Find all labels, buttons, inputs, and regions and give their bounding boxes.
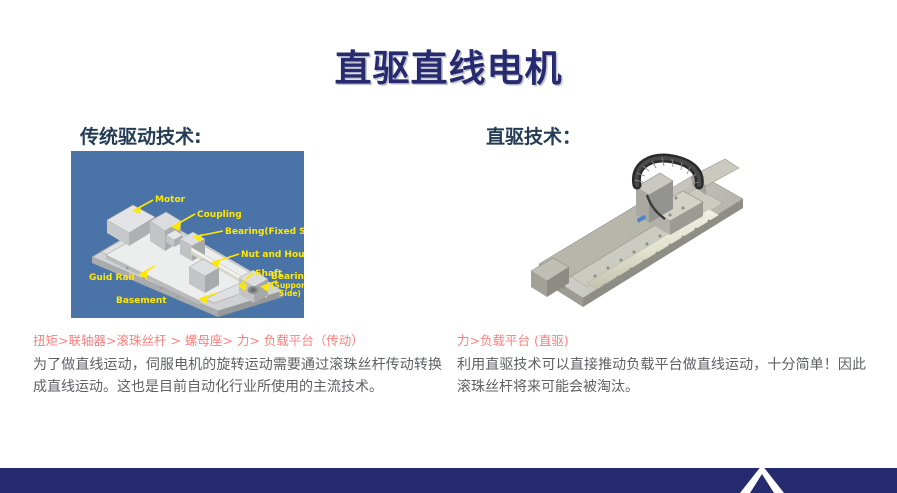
left-body-text: 为了做直线运动，伺服电机的旋转运动需要通过滚珠丝杆传动转换成直线运动。这也是目前… bbox=[33, 355, 442, 398]
figure-label-basement: Basement bbox=[116, 296, 167, 306]
figure-label-bearing-fixed: Bearing(Fixed Side) bbox=[225, 227, 304, 237]
ball-screw-stage-diagram: Motor Coupling Bearing(Fixed Side) Nut a… bbox=[71, 151, 304, 318]
figure-label-bearing-supported-3: Side) bbox=[279, 289, 301, 298]
right-flow-caption: 力>负载平台 (直驱) bbox=[457, 330, 569, 349]
slide-canvas: 直驱直线电机 传统驱动技术: bbox=[0, 0, 897, 493]
right-body-text: 利用直驱技术可以直接推动负载平台做直线运动，十分简单！因此滚珠丝杆将来可能会被淘… bbox=[457, 355, 866, 398]
figure-label-motor: Motor bbox=[155, 195, 186, 205]
left-flow-caption: 扭矩>联轴器>滚珠丝杆 > 螺母座> 力> 负载平台（传动） bbox=[33, 330, 364, 349]
right-column-heading: 直驱技术： bbox=[486, 122, 581, 149]
figure-label-coupling: Coupling bbox=[197, 210, 242, 220]
figure-label-guid-rail: Guid Rail bbox=[89, 273, 135, 283]
linear-motor-stage-photo bbox=[487, 151, 759, 318]
figure-label-nut-housing: Nut and Housing bbox=[241, 250, 304, 260]
page-title: 直驱直线电机 bbox=[0, 38, 897, 92]
triangle-chevron-logo bbox=[736, 463, 788, 493]
left-column-heading: 传统驱动技术: bbox=[80, 122, 202, 149]
